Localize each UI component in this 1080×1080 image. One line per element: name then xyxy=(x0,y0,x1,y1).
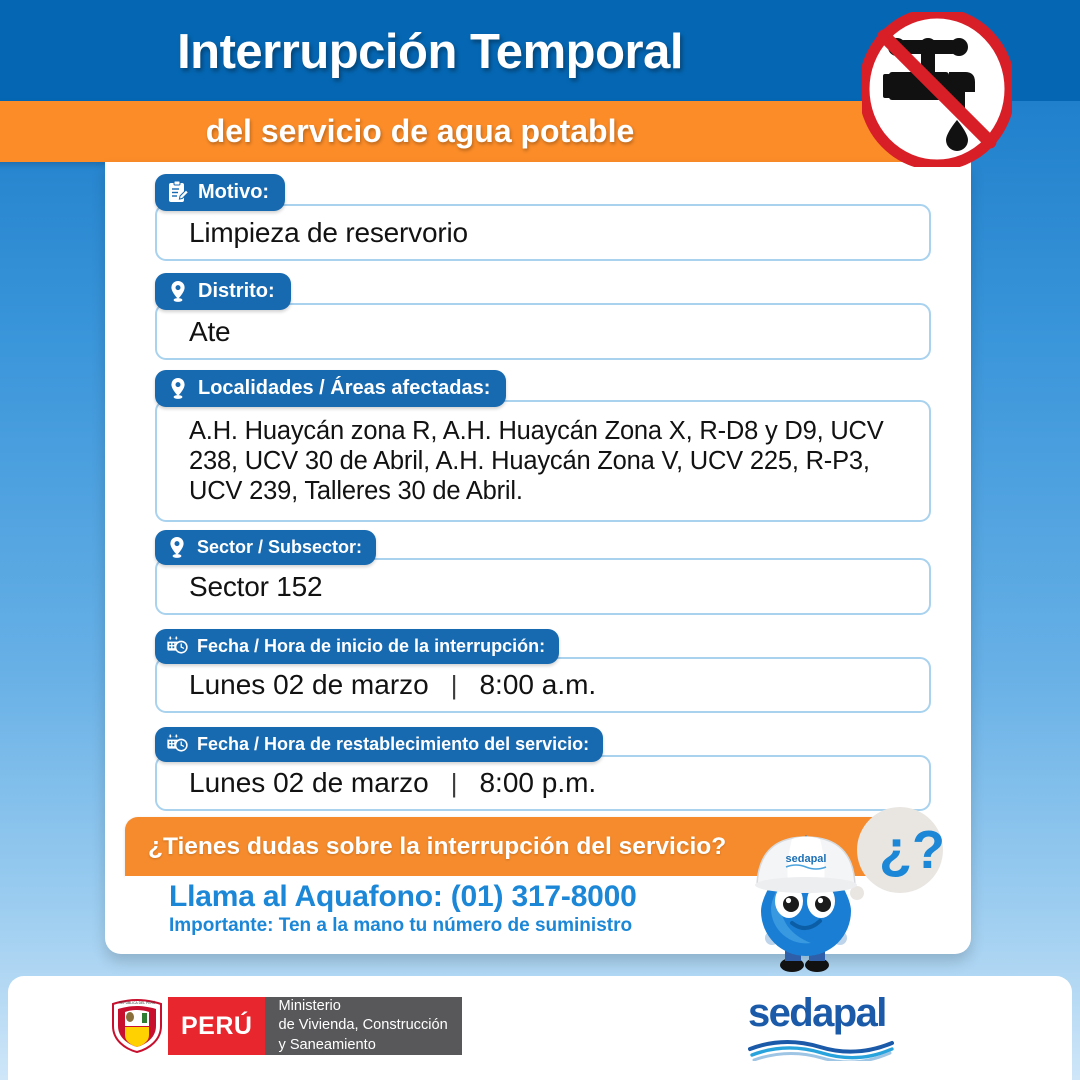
sedapal-wordmark: sedapal xyxy=(748,993,894,1033)
page-title: Interrupción Temporal xyxy=(0,24,860,80)
field-label-inicio: Fecha / Hora de inicio de la interrupció… xyxy=(155,629,559,664)
field-value-restablecimiento[interactable]: Lunes 02 de marzo | 8:00 p.m. xyxy=(155,755,931,811)
field-sector: Sector / Subsector: Sector 152 xyxy=(155,530,931,615)
field-value-distrito[interactable]: Ate xyxy=(155,303,931,360)
sedapal-mascot: ¿? xyxy=(745,805,980,980)
map-pin-icon xyxy=(167,279,189,303)
field-inicio-date: Lunes 02 de marzo xyxy=(189,669,429,701)
ministry-wordmark: Ministerio de Vivienda, Construcción y S… xyxy=(265,997,461,1055)
field-motivo: Motivo: Limpieza de reservorio xyxy=(155,174,931,261)
cta-question-text: ¿Tienes dudas sobre la interrupción del … xyxy=(125,833,726,861)
ministry-line-3: y Saneamiento xyxy=(278,1036,447,1055)
field-value-text: Ate xyxy=(189,315,230,348)
field-inicio: Fecha / Hora de inicio de la interrupció… xyxy=(155,629,931,713)
header-orange-bar: del servicio de agua potable xyxy=(0,101,962,162)
field-restablecimiento: Fecha / Hora de restablecimiento del ser… xyxy=(155,727,931,811)
ministry-line-2: de Vivienda, Construcción xyxy=(278,1016,447,1035)
field-value-localidades[interactable]: A.H. Huaycán zona R, A.H. Huaycán Zona X… xyxy=(155,400,931,522)
field-localidades: Localidades / Áreas afectadas: A.H. Huay… xyxy=(155,370,931,522)
field-value-sector[interactable]: Sector 152 xyxy=(155,558,931,615)
svg-text:REPÚBLICA DEL PERÚ: REPÚBLICA DEL PERÚ xyxy=(119,1000,156,1005)
field-inicio-time: 8:00 a.m. xyxy=(479,669,596,701)
peru-wordmark: PERÚ xyxy=(168,997,265,1055)
map-pin-icon xyxy=(166,535,188,559)
field-label-text: Motivo: xyxy=(198,181,269,204)
calendar-clock-icon xyxy=(166,634,188,658)
field-value-motivo[interactable]: Limpieza de reservorio xyxy=(155,204,931,261)
map-pin-icon xyxy=(167,376,189,400)
field-value-text: Limpieza de reservorio xyxy=(189,216,468,249)
calendar-clock-icon xyxy=(166,732,188,756)
field-label-text: Distrito: xyxy=(198,280,275,303)
sedapal-wave-icon xyxy=(748,1035,894,1061)
field-restablecimiento-date: Lunes 02 de marzo xyxy=(189,767,429,799)
field-label-restablecimiento: Fecha / Hora de restablecimiento del ser… xyxy=(155,727,603,762)
ministry-line-1: Ministerio xyxy=(278,997,447,1016)
field-label-text: Fecha / Hora de restablecimiento del ser… xyxy=(197,734,589,755)
thought-bubble: ¿? xyxy=(841,807,945,905)
field-label-motivo: Motivo: xyxy=(155,174,285,211)
page-subtitle: del servicio de agua potable xyxy=(0,113,840,150)
clipboard-pencil-icon xyxy=(167,180,189,204)
field-label-text: Fecha / Hora de inicio de la interrupció… xyxy=(197,636,545,657)
sedapal-logo: sedapal xyxy=(748,993,894,1055)
poster-root: Interrupción Temporal del servicio de ag… xyxy=(0,0,1080,1080)
field-label-text: Localidades / Áreas afectadas: xyxy=(198,377,490,400)
svg-text:sedapal: sedapal xyxy=(786,853,827,865)
peru-coat-of-arms-icon: REPÚBLICA DEL PERÚ xyxy=(106,997,168,1055)
field-value-text: A.H. Huaycán zona R, A.H. Huaycán Zona X… xyxy=(189,416,905,506)
gob-peru-logo: REPÚBLICA DEL PERÚ PERÚ Ministerio de Vi… xyxy=(106,997,462,1055)
field-inicio-separator: | xyxy=(429,670,480,701)
no-water-tap-icon xyxy=(862,12,1012,167)
field-label-text: Sector / Subsector: xyxy=(197,537,362,558)
svg-text:¿?: ¿? xyxy=(879,820,945,880)
safety-helmet-icon: sedapal xyxy=(755,837,857,894)
field-label-sector: Sector / Subsector: xyxy=(155,530,376,565)
field-distrito: Distrito: Ate xyxy=(155,273,931,360)
field-label-distrito: Distrito: xyxy=(155,273,291,310)
field-value-inicio[interactable]: Lunes 02 de marzo | 8:00 a.m. xyxy=(155,657,931,713)
field-restablecimiento-time: 8:00 p.m. xyxy=(479,767,596,799)
field-restablecimiento-separator: | xyxy=(429,768,480,799)
field-value-text: Sector 152 xyxy=(189,570,322,603)
field-label-localidades: Localidades / Áreas afectadas: xyxy=(155,370,506,407)
